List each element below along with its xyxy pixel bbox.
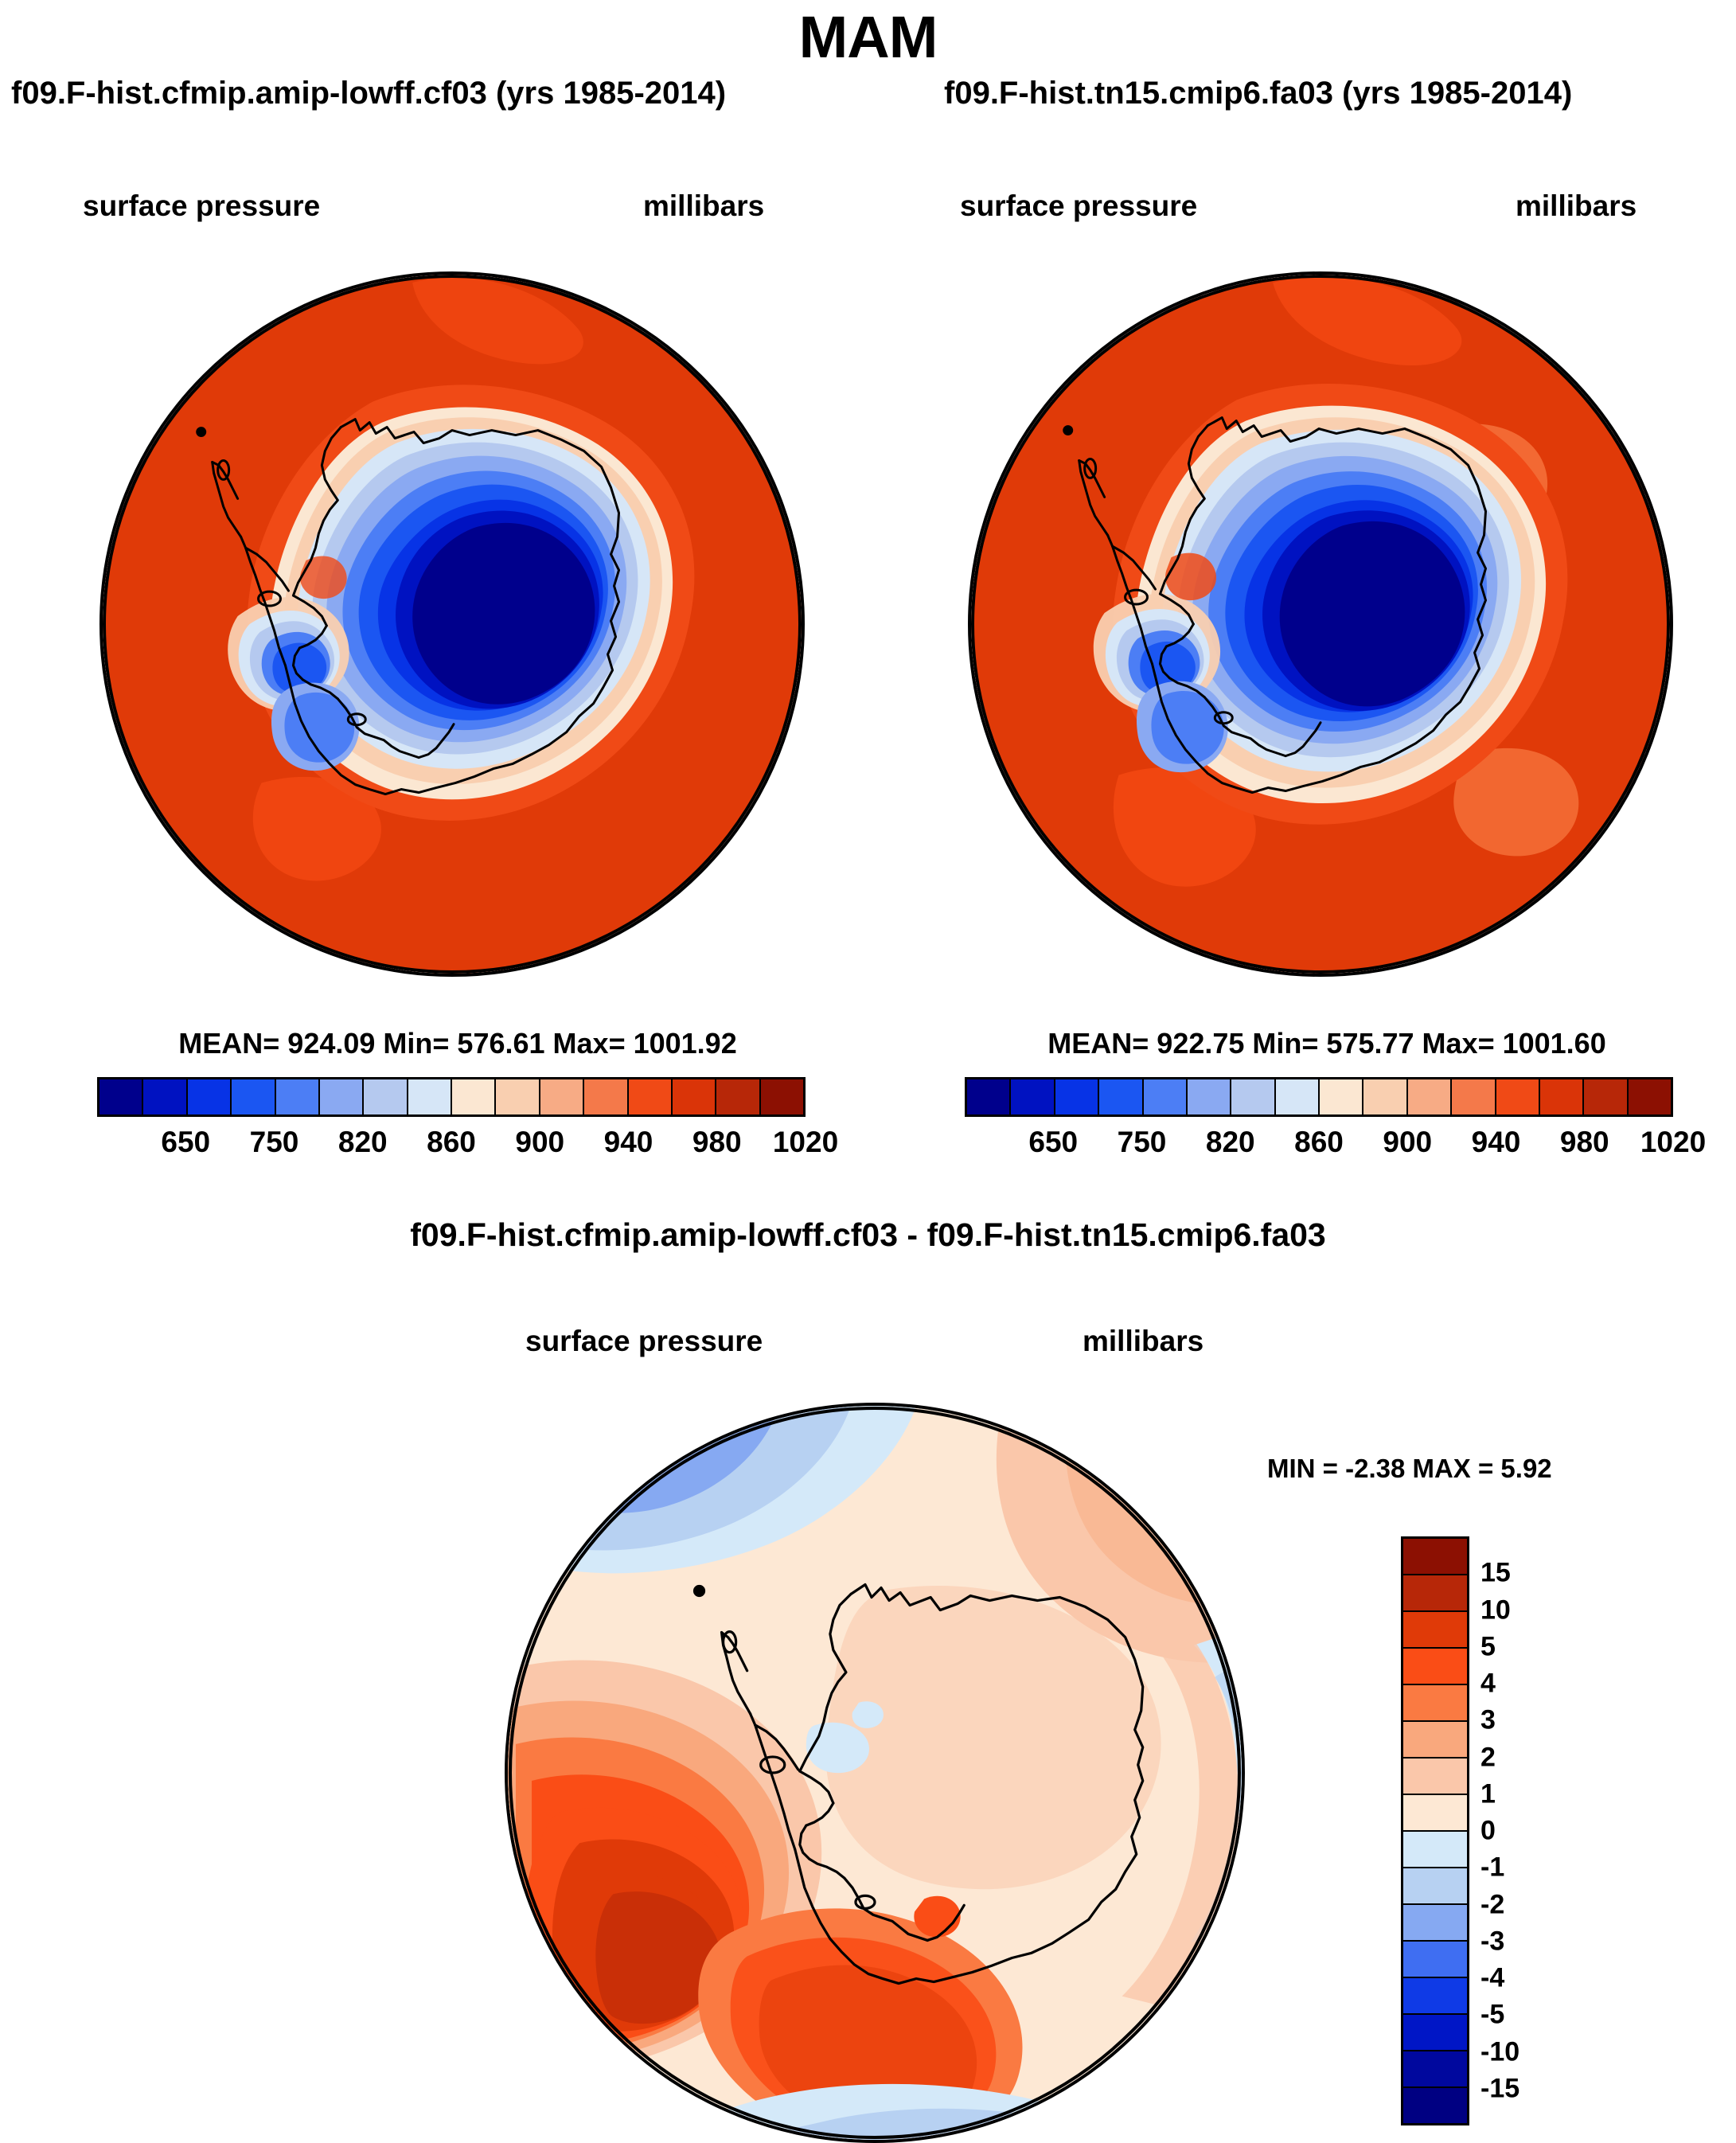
colorbar-difference-cell-13 [1403, 2015, 1467, 2051]
colorbar-left-cell-14 [716, 1079, 760, 1114]
colorbar-right-tick-900: 900 [1383, 1126, 1432, 1159]
colorbar-left-cells [97, 1077, 806, 1117]
colorbar-difference-cell-4 [1403, 1685, 1467, 1722]
colorbar-right-cell-9 [1363, 1079, 1407, 1114]
colorbar-left-cell-7 [408, 1079, 452, 1114]
colorbar-left-cell-10 [540, 1079, 584, 1114]
colorbar-left-tick-820: 820 [338, 1126, 388, 1159]
colorbar-right-cell-5 [1188, 1079, 1231, 1114]
colorbar-difference-tick-neg2: -2 [1480, 1889, 1504, 1920]
colorbar-difference-tick-neg10: -10 [1480, 2036, 1519, 2067]
colorbar-left-tick-1020: 1020 [773, 1126, 838, 1159]
difference-minmax: MIN = -2.38 MAX = 5.92 [1267, 1454, 1552, 1484]
colorbar-difference-cell-9 [1403, 1868, 1467, 1905]
colorbar-right-cell-0 [967, 1079, 1011, 1114]
colorbar-difference-cell-1 [1403, 1575, 1467, 1612]
colorbar-difference-cell-14 [1403, 2051, 1467, 2088]
colorbar-difference-cell-10 [1403, 1905, 1467, 1942]
colorbar-difference-tick-15: 15 [1480, 1558, 1511, 1589]
units-label-left: millibars [643, 189, 764, 223]
colorbar-difference: 1510543210-1-2-3-4-5-10-15 [1401, 1536, 1576, 2125]
colorbar-difference-cell-3 [1403, 1649, 1467, 1685]
page-title: MAM [0, 3, 1736, 71]
variable-label-left: surface pressure [83, 189, 320, 223]
colorbar-right-cells [965, 1077, 1673, 1117]
colorbar-right-tick-1020: 1020 [1640, 1126, 1706, 1159]
colorbar-left-cell-6 [364, 1079, 408, 1114]
colorbar-right-tick-750: 750 [1118, 1126, 1167, 1159]
colorbar-right-cell-13 [1540, 1079, 1584, 1114]
colorbar-right: 6507508208609009409801020 [965, 1077, 1673, 1167]
colorbar-left-cell-11 [584, 1079, 628, 1114]
colorbar-difference-tick-neg4: -4 [1480, 1963, 1504, 1994]
map-right-svg [971, 275, 1670, 974]
colorbar-right-cell-3 [1099, 1079, 1143, 1114]
colorbar-left: 6507508208609009409801020 [97, 1077, 806, 1167]
colorbar-difference-cell-15 [1403, 2088, 1467, 2123]
colorbar-left-cell-1 [143, 1079, 187, 1114]
colorbar-left-cell-8 [452, 1079, 496, 1114]
colorbar-left-cell-2 [188, 1079, 232, 1114]
colorbar-difference-cell-11 [1403, 1942, 1467, 1978]
map-difference [505, 1403, 1245, 2143]
map-left-svg [103, 275, 802, 974]
colorbar-left-tick-980: 980 [692, 1126, 742, 1159]
colorbar-right-ticklabels: 6507508208609009409801020 [965, 1126, 1673, 1167]
colorbar-difference-tick-3: 3 [1480, 1705, 1496, 1736]
map-left-contours [103, 275, 802, 974]
colorbar-left-cell-9 [496, 1079, 540, 1114]
colorbar-left-cell-13 [673, 1079, 716, 1114]
variable-label-diff: surface pressure [525, 1325, 763, 1358]
colorbar-difference-tick-0: 0 [1480, 1816, 1496, 1847]
colorbar-difference-cell-2 [1403, 1612, 1467, 1649]
stats-right: MEAN= 922.75 Min= 575.77 Max= 1001.60 [917, 1027, 1736, 1060]
colorbar-difference-cell-12 [1403, 1978, 1467, 2015]
units-label-right: millibars [1516, 189, 1637, 223]
colorbar-left-ticklabels: 6507508208609009409801020 [97, 1126, 806, 1167]
colorbar-difference-tick-neg15: -15 [1480, 2073, 1519, 2104]
colorbar-right-tick-860: 860 [1294, 1126, 1344, 1159]
colorbar-difference-tick-neg3: -3 [1480, 1926, 1504, 1957]
colorbar-difference-tick-2: 2 [1480, 1742, 1496, 1773]
colorbar-left-cell-15 [761, 1079, 803, 1114]
colorbar-left-cell-3 [232, 1079, 275, 1114]
colorbar-right-cell-2 [1055, 1079, 1099, 1114]
colorbar-left-tick-650: 650 [161, 1126, 210, 1159]
colorbar-right-cell-6 [1231, 1079, 1275, 1114]
case-title-right: f09.F-hist.tn15.cmip6.fa03 (yrs 1985-201… [944, 76, 1572, 111]
colorbar-left-cell-4 [276, 1079, 320, 1114]
difference-title: f09.F-hist.cfmip.amip-lowff.cf03 - f09.F… [0, 1216, 1736, 1254]
case-title-left: f09.F-hist.cfmip.amip-lowff.cf03 (yrs 19… [11, 76, 726, 111]
colorbar-difference-cell-7 [1403, 1795, 1467, 1832]
colorbar-right-cell-7 [1276, 1079, 1320, 1114]
units-label-diff: millibars [1083, 1325, 1203, 1358]
colorbar-difference-cell-6 [1403, 1759, 1467, 1795]
colorbar-right-tick-940: 940 [1472, 1126, 1521, 1159]
colorbar-left-cell-12 [629, 1079, 673, 1114]
map-right [968, 271, 1673, 977]
colorbar-difference-tick-neg5: -5 [1480, 2000, 1504, 2031]
colorbar-difference-cell-8 [1403, 1832, 1467, 1868]
colorbar-right-cell-10 [1408, 1079, 1452, 1114]
colorbar-right-cell-14 [1584, 1079, 1628, 1114]
colorbar-left-tick-900: 900 [515, 1126, 564, 1159]
colorbar-left-cell-0 [99, 1079, 143, 1114]
colorbar-difference-tick-4: 4 [1480, 1669, 1496, 1700]
colorbar-difference-cell-5 [1403, 1722, 1467, 1759]
map-right-contours [971, 275, 1670, 974]
colorbar-right-tick-820: 820 [1206, 1126, 1255, 1159]
colorbar-difference-cells [1401, 1536, 1469, 2125]
colorbar-right-cell-11 [1452, 1079, 1496, 1114]
colorbar-right-tick-980: 980 [1560, 1126, 1609, 1159]
map-difference-svg [508, 1406, 1242, 2140]
colorbar-right-cell-15 [1629, 1079, 1671, 1114]
colorbar-difference-tick-1: 1 [1480, 1778, 1496, 1809]
stats-left: MEAN= 924.09 Min= 576.61 Max= 1001.92 [48, 1027, 868, 1060]
colorbar-left-tick-750: 750 [250, 1126, 299, 1159]
colorbar-difference-tick-5: 5 [1480, 1631, 1496, 1662]
colorbar-right-cell-1 [1011, 1079, 1055, 1114]
colorbar-right-cell-12 [1496, 1079, 1540, 1114]
colorbar-difference-tick-10: 10 [1480, 1595, 1511, 1626]
map-left [99, 271, 805, 977]
colorbar-difference-tick-neg1: -1 [1480, 1852, 1504, 1883]
colorbar-difference-cell-0 [1403, 1539, 1467, 1575]
colorbar-right-cell-8 [1320, 1079, 1363, 1114]
colorbar-left-tick-940: 940 [604, 1126, 653, 1159]
colorbar-left-tick-860: 860 [427, 1126, 476, 1159]
variable-label-right: surface pressure [960, 189, 1197, 223]
colorbar-right-cell-4 [1144, 1079, 1188, 1114]
colorbar-left-cell-5 [320, 1079, 364, 1114]
colorbar-right-tick-650: 650 [1028, 1126, 1078, 1159]
colorbar-difference-ticklabels: 1510543210-1-2-3-4-5-10-15 [1480, 1536, 1576, 2125]
